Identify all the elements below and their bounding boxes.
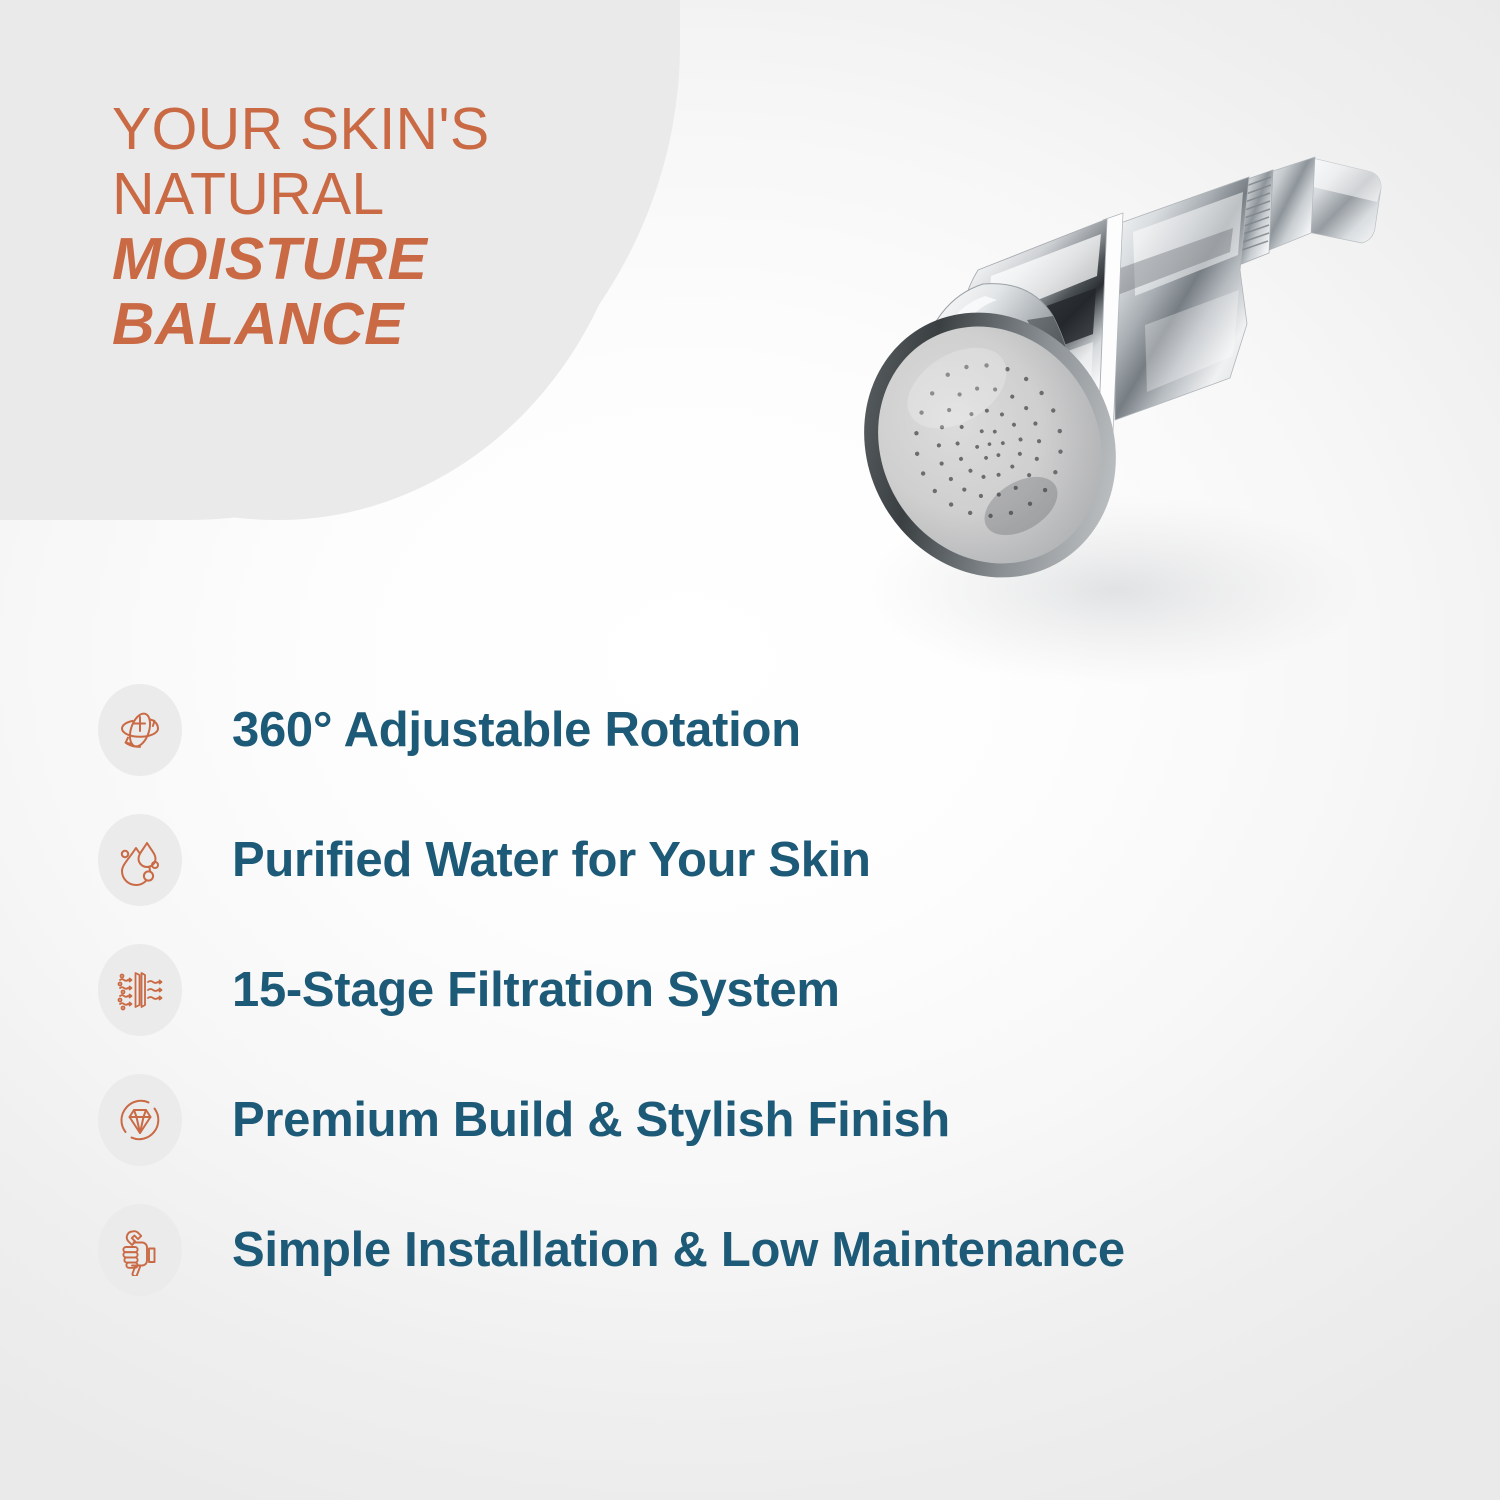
feature-label: Simple Installation & Low Maintenance (232, 1222, 1125, 1278)
headline-line-4: BALANCE (112, 292, 672, 357)
feature-item: Simple Installation & Low Maintenance (98, 1185, 1438, 1315)
headline-line-2: NATURAL (112, 162, 672, 227)
diamond-quality-icon (98, 1074, 182, 1166)
infographic-page: YOUR SKIN'S NATURAL MOISTURE BALANCE (0, 0, 1500, 1500)
product-image (815, 120, 1435, 700)
feature-label: Purified Water for Your Skin (232, 832, 871, 888)
feature-item: Purified Water for Your Skin (98, 795, 1438, 925)
feature-label: 360° Adjustable Rotation (232, 702, 801, 758)
feature-label: 15-Stage Filtration System (232, 962, 840, 1018)
headline-line-3: MOISTURE (112, 227, 672, 292)
hand-wrench-icon (98, 1204, 182, 1296)
feature-item: 360° Adjustable Rotation (98, 665, 1438, 795)
feature-label: Premium Build & Stylish Finish (232, 1092, 950, 1148)
water-drop-icon (98, 814, 182, 906)
feature-item: 15-Stage Filtration System (98, 925, 1438, 1055)
feature-list: 360° Adjustable Rotation Purified Water … (98, 665, 1438, 1315)
headline-line-1: YOUR SKIN'S (112, 97, 672, 162)
rotation-360-icon (98, 684, 182, 776)
feature-item: Premium Build & Stylish Finish (98, 1055, 1438, 1185)
filtration-icon (98, 944, 182, 1036)
headline: YOUR SKIN'S NATURAL MOISTURE BALANCE (112, 97, 672, 357)
